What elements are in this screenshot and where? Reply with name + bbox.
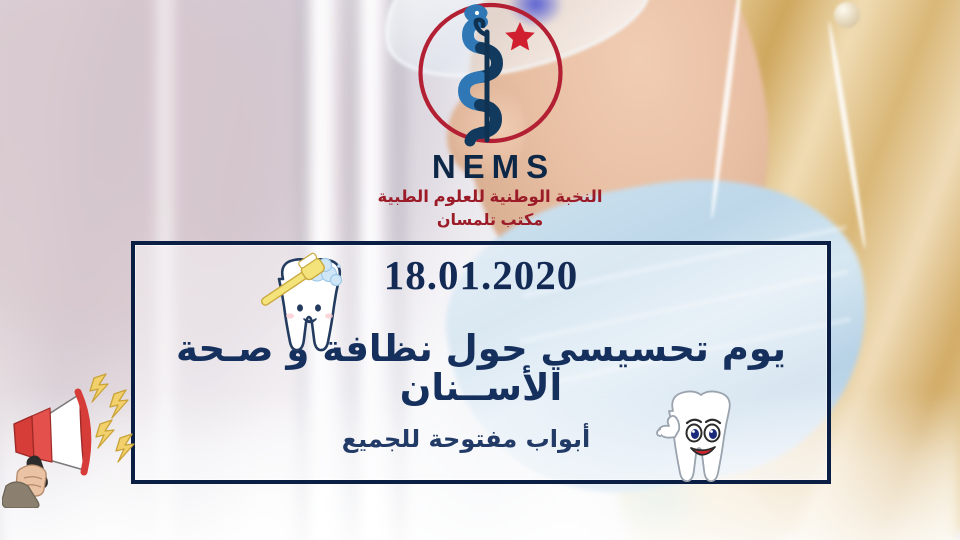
star-icon xyxy=(505,22,535,50)
event-date-row: 18.01.2020 xyxy=(135,255,827,296)
logo-emblem xyxy=(403,2,578,154)
hand-holding-megaphone-icon xyxy=(2,358,144,508)
tooth-thumbs-up-icon xyxy=(647,385,747,489)
poster-canvas: NEMS النخبة الوطنية للعلوم الطبية مكتب ت… xyxy=(0,0,960,540)
tooth-with-toothbrush-icon xyxy=(259,249,363,355)
event-date: 18.01.2020 xyxy=(384,255,579,296)
person-earring xyxy=(834,2,860,28)
nems-logo: NEMS النخبة الوطنية للعلوم الطبية مكتب ت… xyxy=(376,2,604,242)
event-banner: 18.01.2020 يوم تحسيسي حول نظافة و صـحة ا… xyxy=(131,241,831,484)
banner-content: 18.01.2020 يوم تحسيسي حول نظافة و صـحة ا… xyxy=(135,245,827,480)
logo-name-text: NEMS xyxy=(376,150,604,185)
rod-of-asclepius-icon xyxy=(403,2,578,154)
logo-arabic-full-name: النخبة الوطنية للعلوم الطبية xyxy=(376,186,604,208)
logo-arabic-office: مكتب تلمسان xyxy=(376,210,604,232)
lightning-bolt-icon xyxy=(90,374,134,462)
